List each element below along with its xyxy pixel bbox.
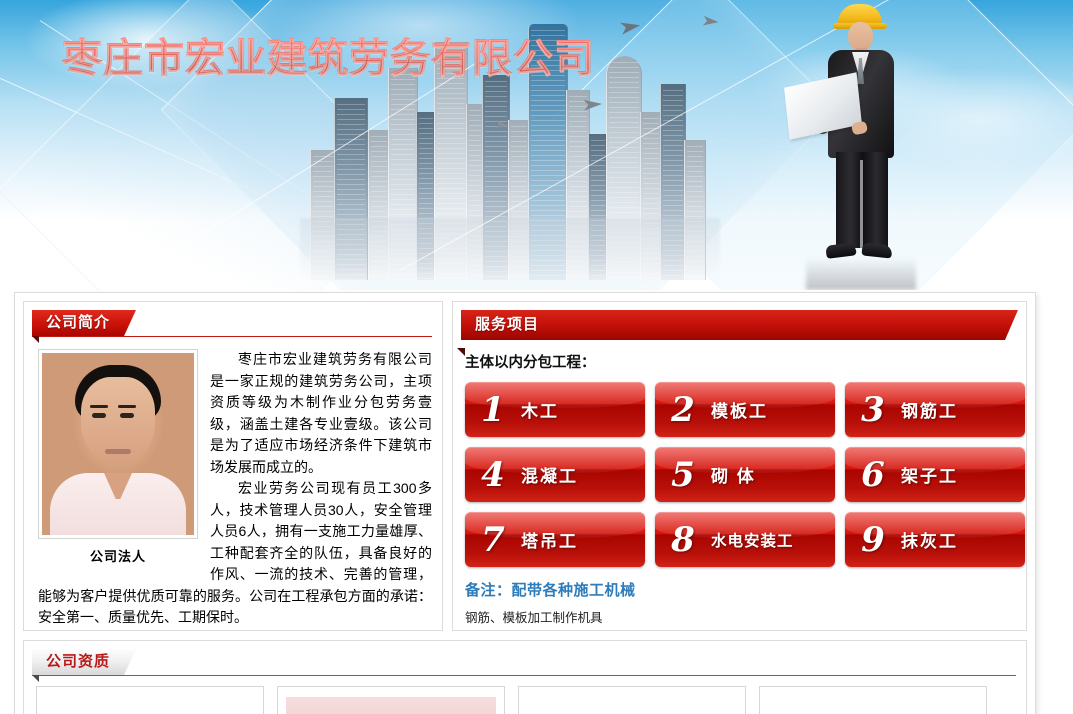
certificate-thumb-4[interactable]: [759, 686, 987, 714]
top-panels-row: 公司简介: [15, 293, 1035, 631]
page-title: 枣庄市宏业建筑劳务有限公司: [62, 26, 595, 84]
service-item-8[interactable]: 8 水电安装工: [655, 512, 835, 567]
legal-person-caption: 公司法人: [38, 546, 198, 565]
avatar: [42, 353, 194, 535]
service-item-1[interactable]: 1 木工: [465, 382, 645, 437]
bird-icon: ➤: [617, 16, 644, 39]
tab-company-profile[interactable]: 公司简介: [32, 310, 136, 336]
bird-icon: ➤: [700, 13, 720, 30]
service-items-panel: 服务项目 主体以内分包工程： 1 木工 2 模板工: [452, 301, 1027, 631]
service-label: 混凝工: [521, 462, 578, 487]
service-subtitle: 主体以内分包工程：: [465, 351, 1014, 372]
service-label: 钢筋工: [901, 397, 958, 422]
service-item-5[interactable]: 5 砌 体: [655, 447, 835, 502]
service-number: 4: [465, 455, 521, 495]
site-banner: ➤ ➤ ➤ ➤ 枣庄市宏业建筑劳务有限公司: [0, 0, 1073, 290]
certificate-thumb-1[interactable]: [36, 686, 264, 714]
service-note-secondary: 钢筋、模板加工制作机具: [465, 607, 1014, 626]
qualification-header-rule: [32, 675, 1016, 676]
engineer-legs: [836, 152, 888, 248]
legal-person-block: 公司法人: [38, 349, 198, 565]
legal-person-photo: [38, 349, 198, 539]
service-label: 塔吊工: [521, 527, 578, 552]
service-item-4[interactable]: 4 混凝工: [465, 447, 645, 502]
service-number: 2: [655, 390, 711, 430]
service-label: 抹灰工: [901, 527, 958, 552]
service-number: 7: [465, 520, 521, 560]
service-items-body: 主体以内分包工程： 1 木工 2 模板工 3 钢筋工: [453, 340, 1026, 626]
page-root: ➤ ➤ ➤ ➤ 枣庄市宏业建筑劳务有限公司 公司简介: [0, 0, 1073, 714]
engineer-illustration: [800, 4, 920, 276]
certificate-thumbnail-row: [24, 676, 1026, 714]
service-items-grid: 1 木工 2 模板工 3 钢筋工 4 混凝工: [465, 382, 1014, 567]
engineer-reflection: [806, 254, 916, 290]
service-number: 5: [655, 455, 711, 495]
bird-icon: ➤: [492, 117, 510, 132]
service-item-6[interactable]: 6 架子工: [845, 447, 1025, 502]
certificate-thumb-3[interactable]: [518, 686, 746, 714]
service-item-3[interactable]: 3 钢筋工: [845, 382, 1025, 437]
service-number: 1: [465, 390, 521, 430]
service-item-7[interactable]: 7 塔吊工: [465, 512, 645, 567]
service-item-2[interactable]: 2 模板工: [655, 382, 835, 437]
skyline-reflection: [300, 218, 720, 290]
service-label: 架子工: [901, 462, 958, 487]
service-number: 8: [655, 520, 711, 560]
service-number: 9: [845, 520, 901, 560]
certificate-thumb-2[interactable]: [277, 686, 505, 714]
bird-icon: ➤: [580, 95, 604, 114]
main-content-container: 公司简介: [14, 292, 1036, 714]
company-qualification-header: 公司资质: [24, 641, 1026, 676]
service-note-primary: 备注：配带各种施工机械: [465, 579, 1014, 600]
company-qualification-panel: 公司资质: [23, 640, 1027, 714]
company-profile-header: 公司简介: [24, 302, 442, 337]
service-item-9[interactable]: 9 抹灰工: [845, 512, 1025, 567]
service-label: 木工: [521, 397, 559, 422]
service-label: 水电安装工: [711, 529, 794, 551]
company-profile-body: 公司法人 枣庄市宏业建筑劳务有限公司是一家正规的建筑劳务公司，主项资质等级为木制…: [24, 337, 442, 629]
service-number: 6: [845, 455, 901, 495]
header-rule: [32, 336, 432, 337]
company-profile-panel: 公司简介: [23, 301, 443, 631]
service-label: 砌 体: [711, 462, 756, 487]
service-items-header: 服务项目: [453, 310, 1026, 340]
tab-company-qualification[interactable]: 公司资质: [32, 649, 136, 675]
service-label: 模板工: [711, 397, 768, 422]
tab-service-items[interactable]: 服务项目: [461, 310, 1018, 340]
service-number: 3: [845, 390, 901, 430]
